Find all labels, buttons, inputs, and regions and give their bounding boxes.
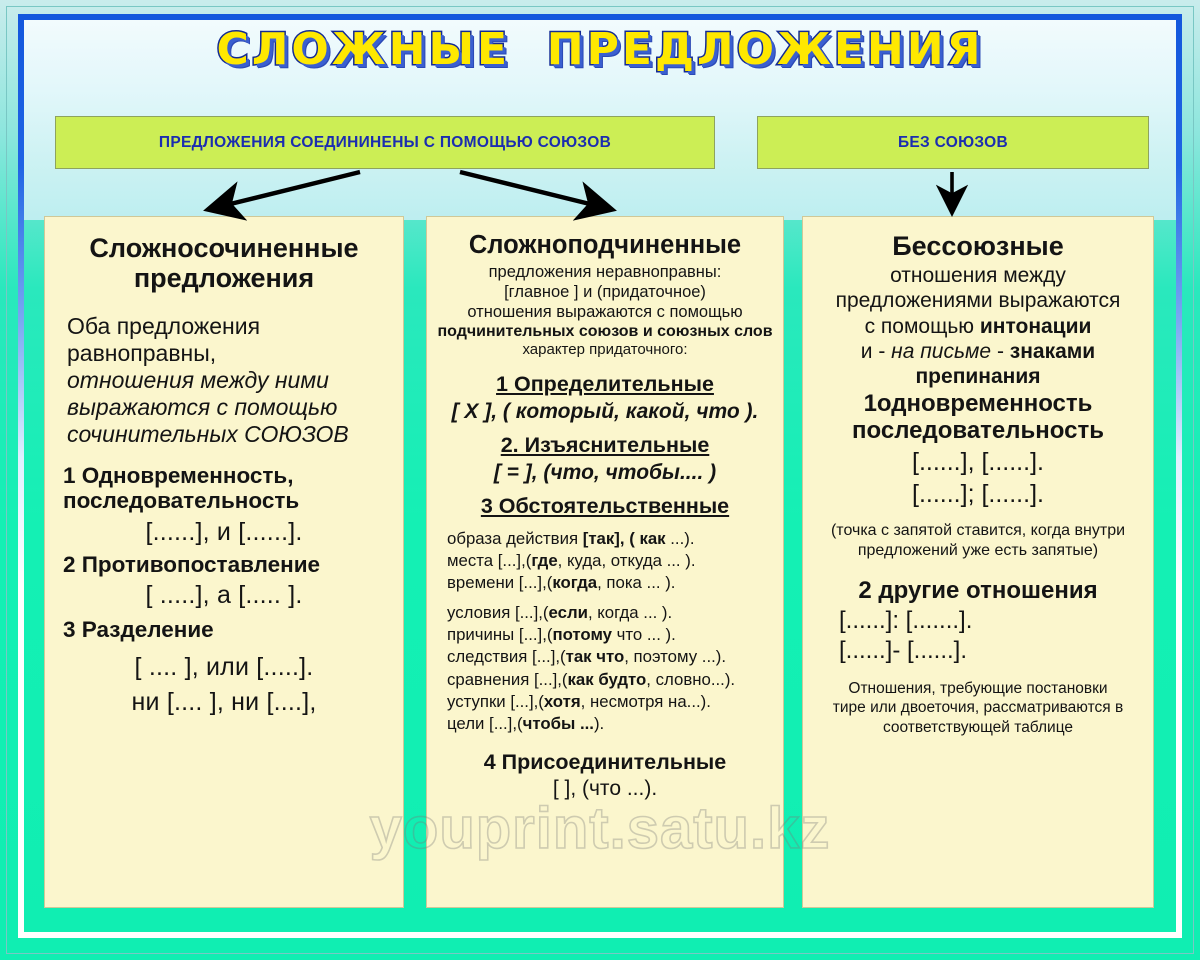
column-3-body-3: с помощью интонации bbox=[811, 314, 1145, 339]
column-1-item-3-scheme-2: ни [.... ], ни [....], bbox=[53, 688, 395, 717]
kind-3-label: условия [...],( bbox=[447, 603, 549, 622]
column-3-body-4-b: - bbox=[991, 340, 1010, 363]
column-2-type-1-heading: 1 Определительные bbox=[435, 372, 775, 397]
adverbial-kind-row: образа действия [так], ( как ...). bbox=[447, 528, 775, 550]
column-3-body-5: препинания bbox=[811, 364, 1145, 389]
kind-5-mid: так что bbox=[566, 647, 625, 666]
kind-6-label: сравнения [...],( bbox=[447, 670, 568, 689]
header-box-left-label: ПРЕДЛОЖЕНИЯ СОЕДИНИНЕНЫ С ПОМОЩЬЮ СОЮЗОВ bbox=[159, 134, 611, 152]
column-3-scheme-1: [......], [......]. bbox=[811, 448, 1145, 477]
column-1-lead-italic-1: отношения между ними bbox=[67, 367, 395, 394]
column-1-heading-line-1: Сложносочиненные bbox=[53, 233, 395, 263]
column-2-sub-5: характер придаточного: bbox=[435, 341, 775, 359]
column-2-sub-3: отношения выражаются с помощью bbox=[435, 302, 775, 322]
column-3-body-3-plain: с помощью bbox=[865, 315, 980, 338]
kind-0-rest: ...). bbox=[666, 529, 695, 548]
column-2-type-1-formula: [ X ], ( который, какой, что ). bbox=[435, 400, 775, 424]
kind-6-rest: , словно...). bbox=[646, 670, 735, 689]
column-1-item-2-label: 2 Противопоставление bbox=[63, 553, 395, 578]
column-3-scheme-4: [......]- [......]. bbox=[839, 637, 1145, 665]
kind-7-mid: хотя bbox=[544, 692, 581, 711]
kind-2-mid: когда bbox=[552, 573, 597, 592]
column-2-sub-2: [главное ] и (придаточное) bbox=[435, 282, 775, 302]
kind-4-mid: потому bbox=[552, 625, 612, 644]
kind-6-mid: как будто bbox=[568, 670, 647, 689]
column-3-body-1: отношения между bbox=[811, 263, 1145, 288]
column-3-foot-line-2: тире или двоеточия, рассматриваются в bbox=[811, 698, 1145, 717]
column-3-heading: Бессоюзные bbox=[811, 231, 1145, 261]
column-1-heading: Сложносочиненные предложения bbox=[53, 233, 395, 293]
column-2-type-4-heading: 4 Присоединительные bbox=[435, 750, 775, 775]
kind-4-rest: что ... ). bbox=[612, 625, 676, 644]
adverbial-kind-row: следствия [...],(так что, поэтому ...). bbox=[447, 646, 775, 668]
column-2-type-4-formula: [ ], (что ...). bbox=[435, 777, 775, 801]
kind-1-rest: , куда, откуда ... ). bbox=[558, 551, 696, 570]
column-3-body-3-bold: интонации bbox=[980, 315, 1092, 338]
column-3-foot-line-1: Отношения, требующие постановки bbox=[811, 679, 1145, 698]
column-3-body-4: и - на письме - знаками bbox=[811, 339, 1145, 364]
column-3-scheme-2: [......]; [......]. bbox=[811, 480, 1145, 509]
column-2-adverbial-kinds: образа действия [так], ( как ...). места… bbox=[447, 528, 775, 736]
column-asyndetic-sentences: Бессоюзные отношения между предложениями… bbox=[802, 216, 1154, 908]
kind-4-label: причины [...],( bbox=[447, 625, 552, 644]
adverbial-kind-row: времени [...],(когда, пока ... ). bbox=[447, 572, 775, 594]
kind-5-rest: , поэтому ...). bbox=[624, 647, 726, 666]
adverbial-kind-row: причины [...],(потому что ... ). bbox=[447, 624, 775, 646]
kind-1-label: места [...],( bbox=[447, 551, 531, 570]
column-1-item-1-line-2: последовательность bbox=[63, 489, 395, 514]
column-1-item-1-label: 1 Одновременность, последовательность bbox=[63, 464, 395, 514]
adverbial-kind-row: уступки [...],(хотя, несмотря на...). bbox=[447, 691, 775, 713]
column-1-item-1-line-1: 1 Одновременность, bbox=[63, 464, 395, 489]
kind-7-rest: , несмотря на...). bbox=[581, 692, 711, 711]
column-1-item-1-scheme: [......], и [......]. bbox=[53, 518, 395, 547]
column-complex-sentences: Сложноподчиненные предложения неравнопра… bbox=[426, 216, 784, 908]
column-1-item-3-scheme: [ .... ], или [.....]. bbox=[53, 653, 395, 682]
column-1-lead: Оба предложения равноправны, отношения м… bbox=[67, 313, 395, 448]
column-3-item-2-label: 2 другие отношения bbox=[811, 577, 1145, 605]
column-1-heading-line-2: предложения bbox=[53, 263, 395, 293]
kind-0-label: образа действия bbox=[447, 529, 583, 548]
poster-root: СЛОЖНЫЕ ПРЕДЛОЖЕНИЯ ПРЕДЛОЖЕНИЯ СОЕДИНИН… bbox=[0, 0, 1200, 960]
column-2-type-2-heading: 2. Изъяснительные bbox=[435, 433, 775, 458]
header-box-right-label: БЕЗ СОЮЗОВ bbox=[898, 134, 1008, 152]
adverbial-kind-row: сравнения [...],(как будто, словно...). bbox=[447, 669, 775, 691]
column-2-heading: Сложноподчиненные bbox=[435, 231, 775, 260]
kind-7-label: уступки [...],( bbox=[447, 692, 544, 711]
kind-2-label: времени [...],( bbox=[447, 573, 552, 592]
column-3-foot-line-3: соответствующей таблице bbox=[811, 718, 1145, 737]
column-1-lead-plain-1: Оба предложения bbox=[67, 313, 395, 340]
column-2-type-2-formula: [ = ], (что, чтобы.... ) bbox=[435, 461, 775, 485]
column-3-scheme-3: [......]: [.......]. bbox=[839, 607, 1145, 635]
kind-2-rest: , пока ... ). bbox=[597, 573, 675, 592]
column-compound-sentences: Сложносочиненные предложения Оба предлож… bbox=[44, 216, 404, 908]
column-3-item-1-line-1: 1одновременность bbox=[811, 391, 1145, 418]
column-3-item-1-line-2: последовательность bbox=[811, 418, 1145, 445]
kind-5-label: следствия [...],( bbox=[447, 647, 566, 666]
header-box-with-conjunctions: ПРЕДЛОЖЕНИЯ СОЕДИНИНЕНЫ С ПОМОЩЬЮ СОЮЗОВ bbox=[55, 116, 715, 169]
header-box-without-conjunctions: БЕЗ СОЮЗОВ bbox=[757, 116, 1149, 169]
column-3-body-2: предложениями выражаются bbox=[811, 288, 1145, 313]
column-1-item-3-label: 3 Разделение bbox=[63, 618, 395, 643]
column-2-sub-4: подчинительных союзов и союзных слов bbox=[435, 322, 775, 342]
page-title: СЛОЖНЫЕ ПРЕДЛОЖЕНИЯ bbox=[0, 24, 1200, 75]
kind-1-mid: где bbox=[531, 551, 557, 570]
column-3-item-1-label: 1одновременность последовательность bbox=[811, 391, 1145, 445]
kind-8-mid: чтобы ... bbox=[523, 714, 594, 733]
column-2-sub-1: предложения неравноправны: bbox=[435, 262, 775, 282]
adverbial-kind-row: условия [...],(если, когда ... ). bbox=[447, 602, 775, 624]
column-1-lead-italic-2: выражаются с помощью bbox=[67, 394, 395, 421]
column-3-body-4-italic: на письме bbox=[891, 340, 991, 363]
column-1-item-3-line-1: 3 Разделение bbox=[63, 618, 395, 643]
kind-8-label: цели [...],( bbox=[447, 714, 523, 733]
kind-3-rest: , когда ... ). bbox=[588, 603, 672, 622]
kind-8-rest: ). bbox=[594, 714, 604, 733]
column-3-note-line-1: (точка с запятой ставится, когда внутри bbox=[811, 521, 1145, 541]
column-3-footnote: Отношения, требующие постановки тире или… bbox=[811, 679, 1145, 737]
kind-0-mid: [так] bbox=[583, 529, 620, 548]
column-1-item-2-scheme: [ .....], а [..... ]. bbox=[53, 581, 395, 610]
column-3-note: (точка с запятой ставится, когда внутри … bbox=[811, 521, 1145, 561]
adverbial-kind-row: цели [...],(чтобы ...). bbox=[447, 713, 775, 735]
column-2-type-3-heading: 3 Обстоятельственные bbox=[435, 494, 775, 519]
column-1-lead-plain-2: равноправны, bbox=[67, 340, 395, 367]
column-1-item-2-line-1: 2 Противопоставление bbox=[63, 553, 395, 578]
column-3-body: отношения между предложениями выражаются… bbox=[811, 263, 1145, 389]
column-1-lead-italic-3: сочинительных СОЮЗОВ bbox=[67, 421, 395, 448]
column-3-note-line-2: предложений уже есть запятые) bbox=[811, 541, 1145, 561]
column-3-body-4-a: и - bbox=[861, 340, 891, 363]
adverbial-kind-row: места [...],(где, куда, откуда ... ). bbox=[447, 550, 775, 572]
kind-0-rest-bold: , ( как bbox=[620, 529, 666, 548]
column-3-body-4-bold: знаками bbox=[1010, 340, 1095, 363]
column-2-subtext: предложения неравноправны: [главное ] и … bbox=[435, 262, 775, 360]
kind-3-mid: если bbox=[549, 603, 588, 622]
